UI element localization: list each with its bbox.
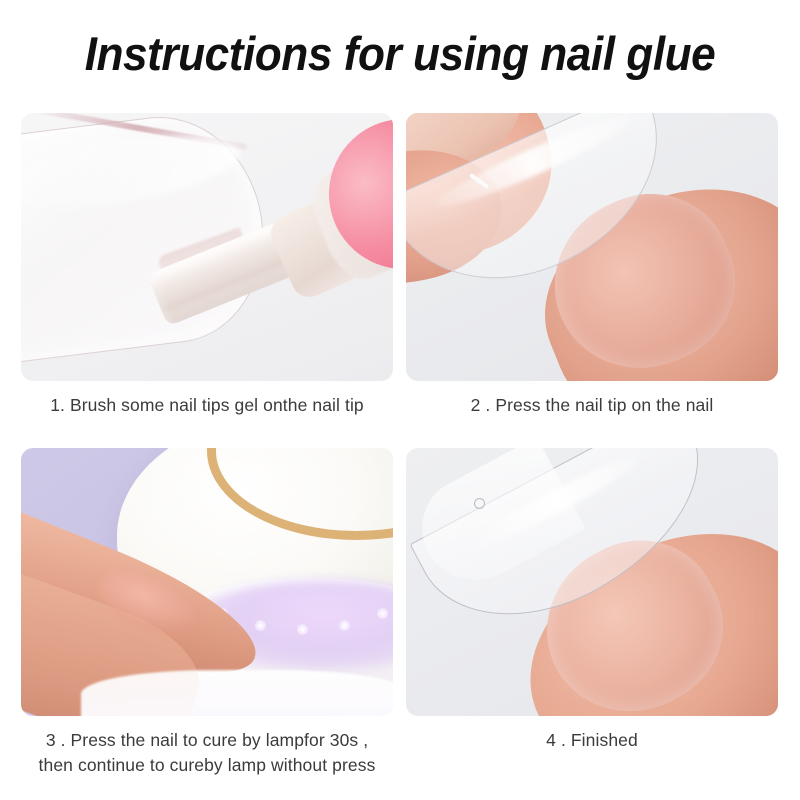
finished-nail-photo [406,448,778,716]
step-1: 1. Brush some nail tips gel onthe nail t… [21,113,393,418]
step-4-caption-line-1: 4 . Finished [546,730,638,750]
step-2-caption-line-1: 2 . Press the nail tip on the nail [471,395,714,415]
uv-lamp-curing-photo [21,448,393,716]
step-1-caption: 1. Brush some nail tips gel onthe nail t… [21,393,393,418]
step-3-caption: 3 . Press the nail to cure by lampfor 30… [21,728,393,778]
tip-air-bubble [474,498,485,509]
step-4: 4 . Finished [406,448,778,753]
page-title: Instructions for using nail glue [24,26,776,82]
uv-led-light [297,624,308,635]
uv-led-light [339,620,350,631]
step-3: 3 . Press the nail to cure by lampfor 30… [21,448,393,778]
step-2: 2 . Press the nail tip on the nail [406,113,778,418]
step-2-caption: 2 . Press the nail tip on the nail [406,393,778,418]
steps-grid: 1. Brush some nail tips gel onthe nail t… [0,108,800,798]
nail-tip-gel-brush-photo [21,113,393,381]
step-3-caption-line-2: then continue to cureby lamp without pre… [21,753,393,778]
step-3-caption-line-1: 3 . Press the nail to cure by lampfor 30… [46,730,368,750]
step-4-caption: 4 . Finished [406,728,778,753]
press-tip-on-nail-photo [406,113,778,381]
uv-led-light [377,608,388,619]
uv-led-light [255,620,266,631]
lamp-table-surface [81,670,393,716]
step-1-caption-line-1: 1. Brush some nail tips gel onthe nail t… [50,395,364,415]
